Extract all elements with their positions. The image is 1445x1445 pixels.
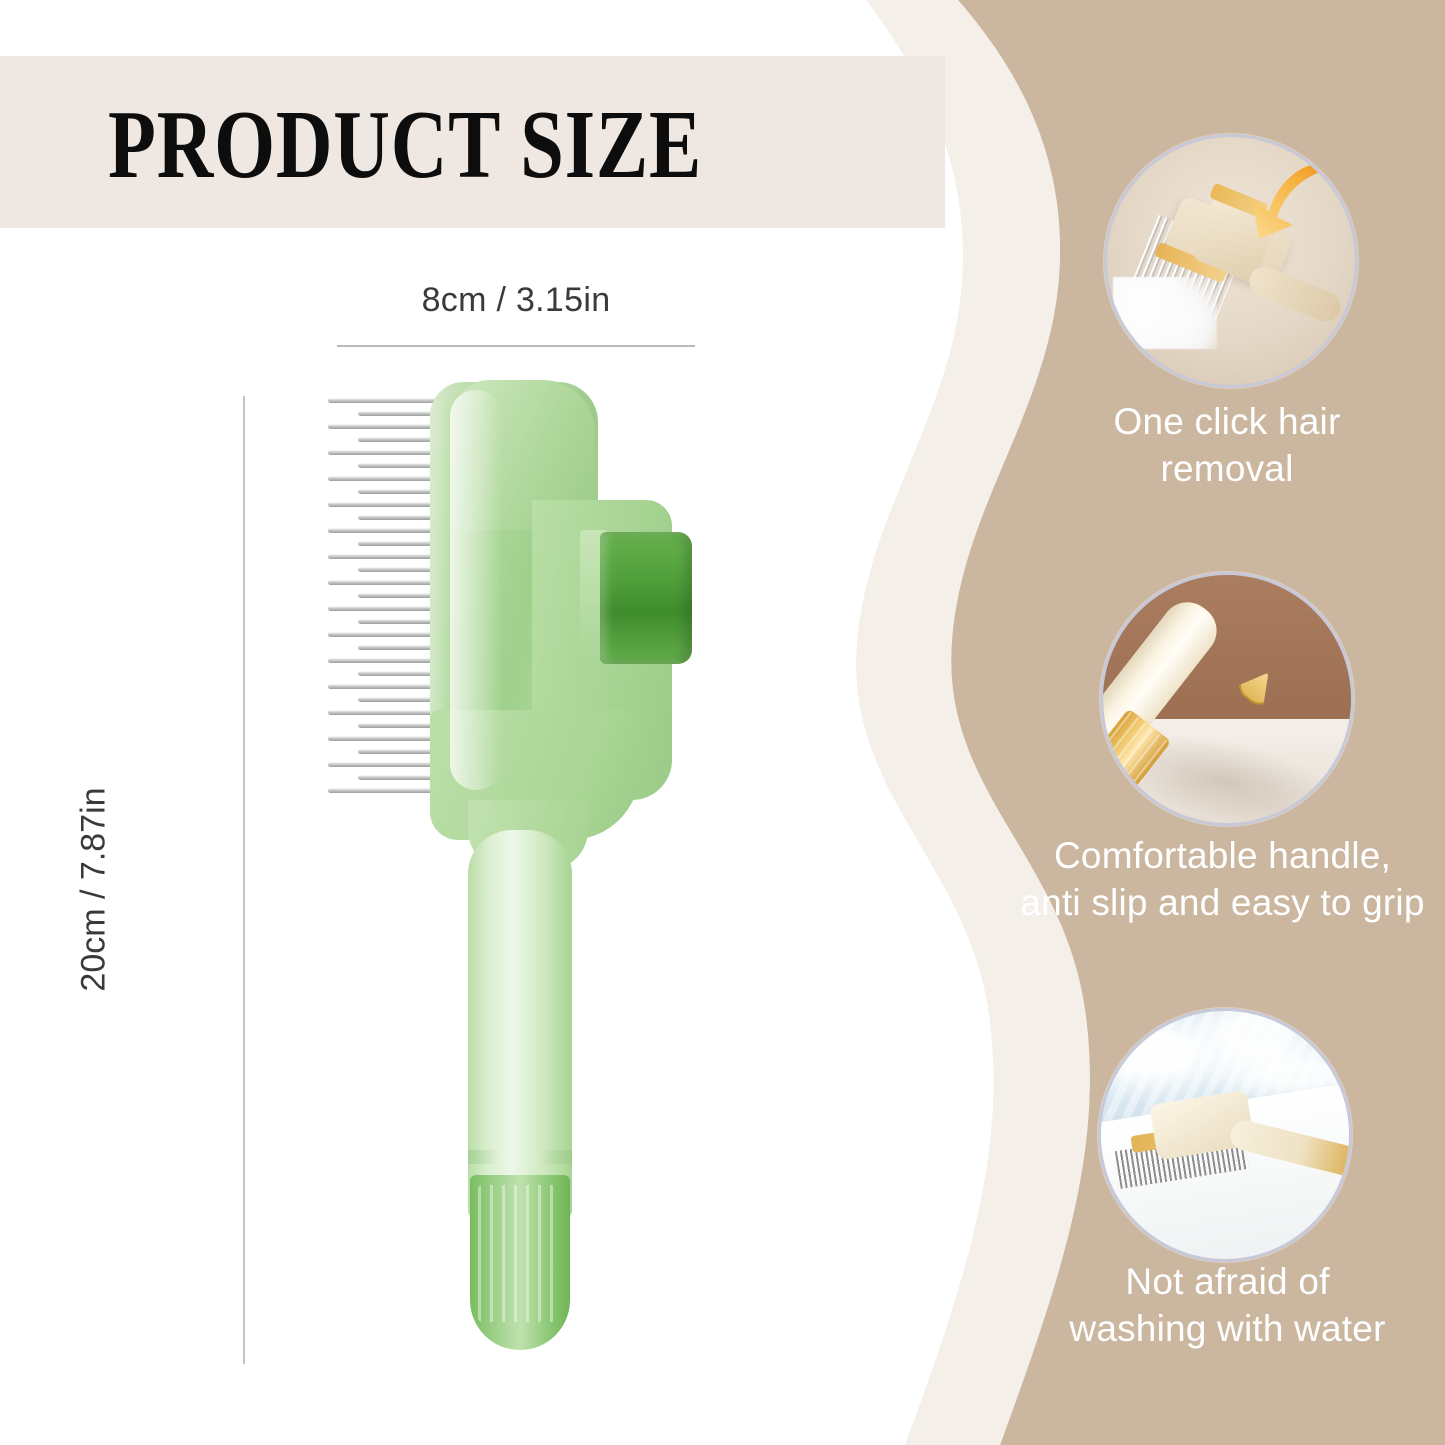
feature-1-fur-clump xyxy=(1113,277,1217,349)
width-dimension-line xyxy=(337,345,695,347)
height-dimension-line xyxy=(243,396,245,1364)
feature-3-caption: Not afraid of washing with water xyxy=(1010,1258,1445,1353)
feature-1-photo xyxy=(1104,134,1358,388)
feature-1-caption: One click hair removal xyxy=(1030,398,1424,493)
width-dimension-label: 8cm / 3.15in xyxy=(337,281,695,320)
retract-button xyxy=(600,532,692,664)
brush-head-highlight xyxy=(450,390,502,790)
page-title: PRODUCT SIZE xyxy=(108,96,702,194)
feature-3-photo xyxy=(1098,1008,1352,1262)
handle-grip xyxy=(470,1175,570,1350)
product-image xyxy=(300,380,730,1360)
handle-seam xyxy=(468,1150,572,1164)
infographic-canvas: PRODUCT SIZE 8cm / 3.15in 20cm / 7.87in xyxy=(0,0,1445,1445)
feature-2-photo xyxy=(1100,572,1354,826)
height-dimension-label: 20cm / 7.87in xyxy=(75,700,114,1080)
feature-2-caption: Comfortable handle, anti slip and easy t… xyxy=(1000,832,1445,927)
down-left-arrow-icon xyxy=(1233,159,1343,245)
brush-pins xyxy=(328,398,438,803)
